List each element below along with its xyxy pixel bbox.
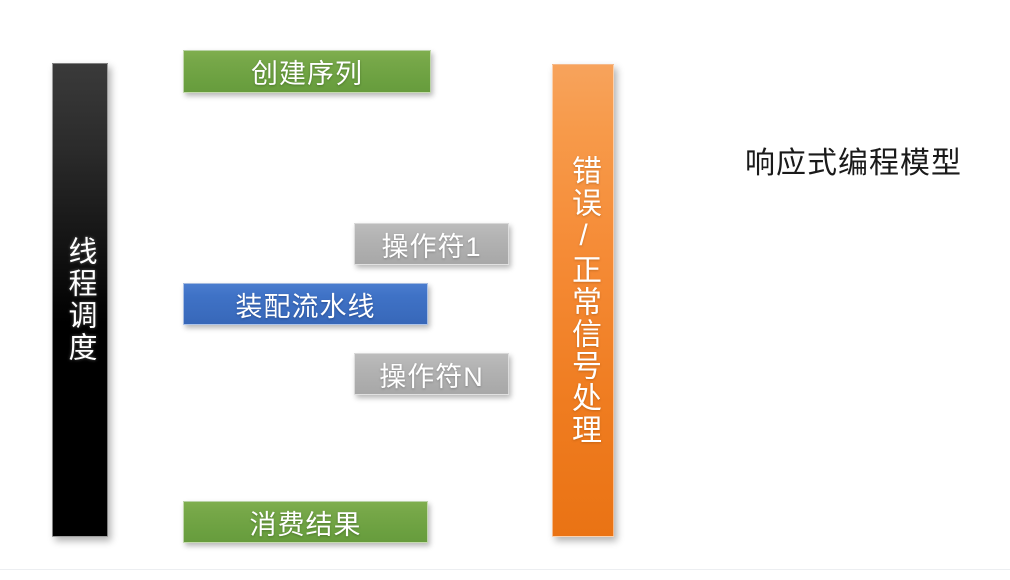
thread-scheduling-bar[interactable]: 线程调度 xyxy=(52,63,108,537)
operator-1-box[interactable]: 操作符1 xyxy=(354,223,509,265)
assembly-line-box[interactable]: 装配流水线 xyxy=(183,283,428,325)
create-sequence-box[interactable]: 创建序列 xyxy=(183,50,431,93)
signal-handling-label: 错误/正常信号处理 xyxy=(553,65,613,536)
consume-result-box[interactable]: 消费结果 xyxy=(183,501,428,543)
thread-scheduling-label: 线程调度 xyxy=(53,64,107,536)
bottom-divider xyxy=(0,569,1010,570)
operator-1-label: 操作符1 xyxy=(381,225,481,264)
reactive-programming-model-caption: 响应式编程模型 xyxy=(745,138,962,182)
operator-n-label: 操作符N xyxy=(379,355,484,394)
slide-canvas: 线程调度 创建序列 操作符1 装配流水线 操作符N 消费结果 错误/正常信号处理… xyxy=(0,0,1010,580)
assembly-line-label: 装配流水线 xyxy=(236,285,376,324)
consume-result-label: 消费结果 xyxy=(250,503,362,542)
operator-n-box[interactable]: 操作符N xyxy=(354,353,509,395)
signal-handling-bar[interactable]: 错误/正常信号处理 xyxy=(552,64,614,537)
create-sequence-label: 创建序列 xyxy=(251,52,363,91)
